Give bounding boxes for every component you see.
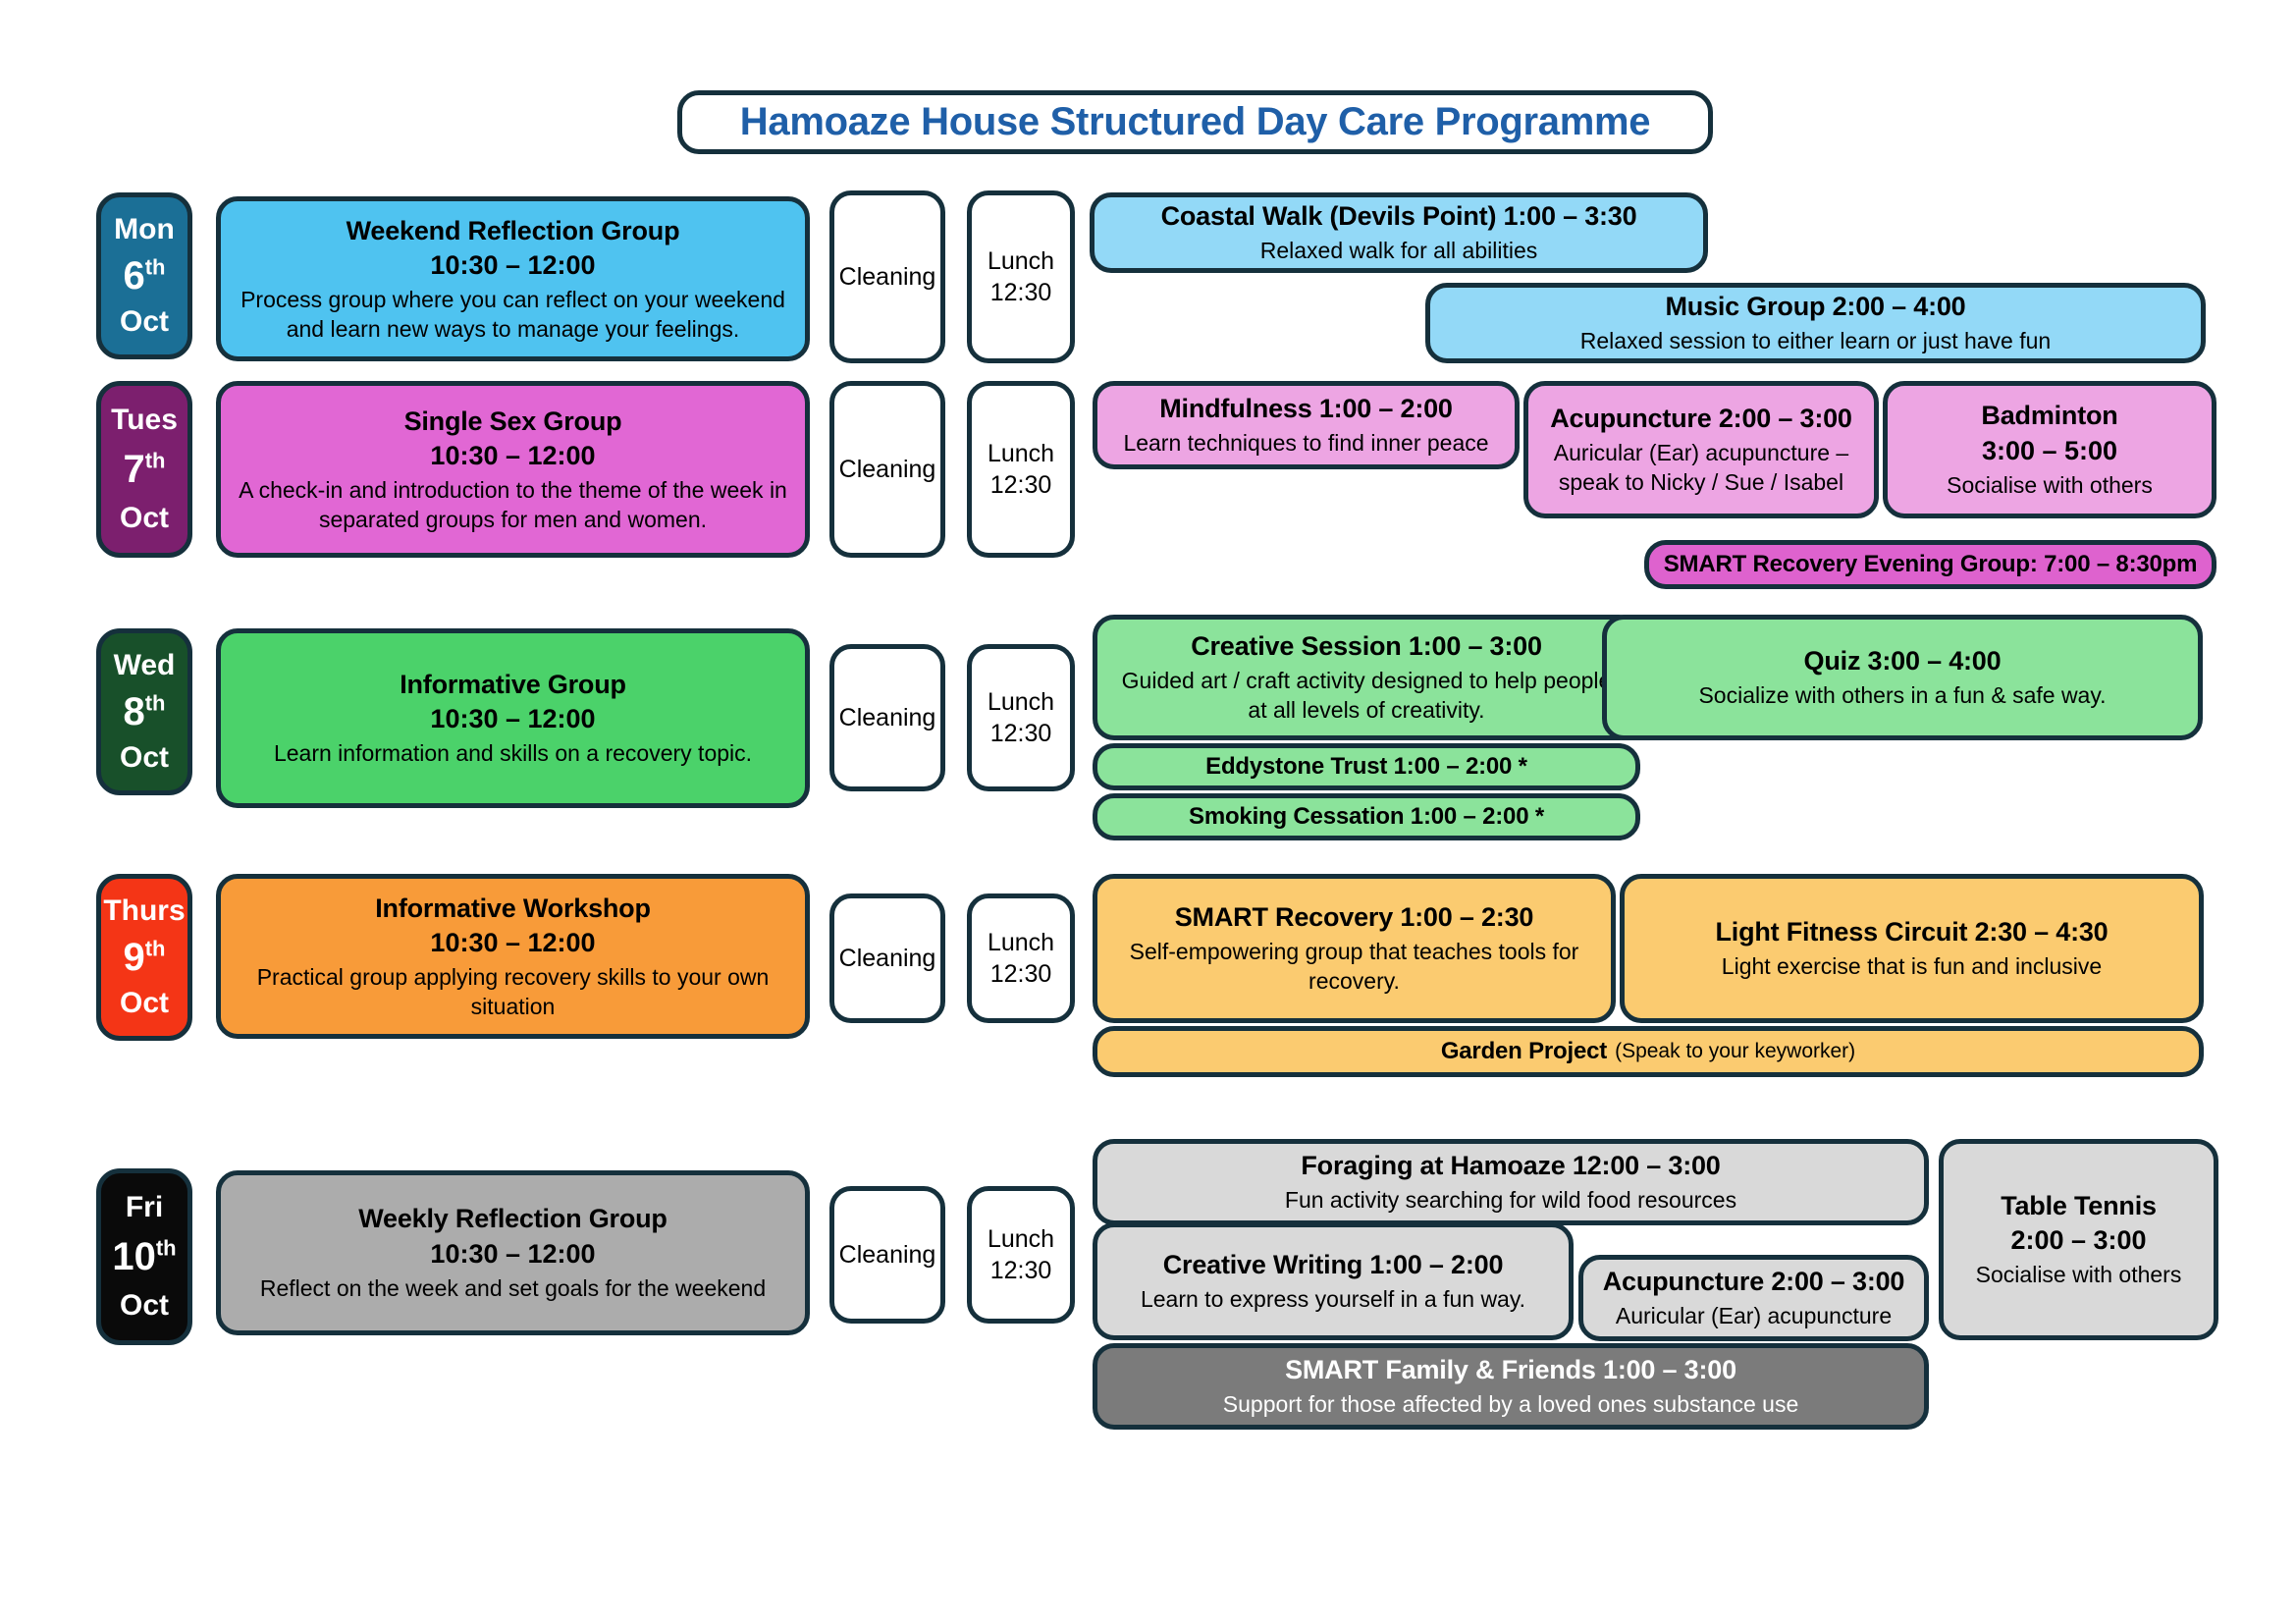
session-time: 3:00 – 5:00 (1982, 434, 2117, 468)
session-title: Table Tennis (2001, 1189, 2157, 1223)
session-desc: (Speak to your keyworker) (1615, 1038, 1855, 1064)
session-time: 10:30 – 12:00 (430, 248, 595, 283)
session-desc: Auricular (Ear) acupuncture (1616, 1302, 1892, 1331)
lunch-slot-wed[interactable]: Lunch 12:30 (967, 644, 1075, 791)
lunch-label: Lunch (988, 438, 1054, 470)
session-desc: Socialise with others (1976, 1261, 2182, 1290)
lunch-slot-thurs[interactable]: Lunch 12:30 (967, 893, 1075, 1023)
session-time: 2:00 – 3:00 (2010, 1223, 2146, 1258)
day-chip-tues: Tues 7th Oct (96, 381, 192, 558)
lunch-time: 12:30 (990, 958, 1052, 991)
session-desc: Learn techniques to find inner peace (1123, 429, 1488, 459)
session-title: Acupuncture 2:00 – 3:00 (1603, 1265, 1905, 1299)
cleaning-label: Cleaning (839, 454, 936, 486)
day-number: 10th (112, 1235, 176, 1279)
session-title: Informative Workshop (375, 892, 651, 926)
session-desc: Socialise with others (1947, 471, 2153, 501)
session-card-afternoon-thurs-1[interactable]: SMART Recovery 1:00 – 2:30 Self-empoweri… (1093, 874, 1616, 1023)
session-title: SMART Recovery Evening Group: 7:00 – 8:3… (1664, 549, 2198, 579)
day-month: Oct (120, 502, 169, 535)
day-chip-thurs: Thurs 9th Oct (96, 874, 192, 1041)
session-title: Weekly Reflection Group (358, 1202, 667, 1236)
session-desc: Socialize with others in a fun & safe wa… (1698, 681, 2106, 711)
day-month: Oct (120, 987, 169, 1020)
lunch-label: Lunch (988, 686, 1054, 719)
session-title: Garden Project (1441, 1036, 1607, 1066)
cleaning-slot-fri[interactable]: Cleaning (829, 1186, 945, 1324)
session-title: SMART Recovery 1:00 – 2:30 (1175, 900, 1533, 935)
session-desc: Guided art / craft activity designed to … (1109, 667, 1624, 726)
day-month: Oct (120, 305, 169, 339)
lunch-time: 12:30 (990, 277, 1052, 309)
cleaning-slot-thurs[interactable]: Cleaning (829, 893, 945, 1023)
session-desc: Learn to express yourself in a fun way. (1141, 1285, 1525, 1315)
session-card-morning-thurs[interactable]: Informative Workshop 10:30 – 12:00 Pract… (216, 874, 810, 1039)
session-card-afternoon-wed-4[interactable]: Smoking Cessation 1:00 – 2:00 * (1093, 793, 1640, 840)
session-card-afternoon-thurs-3[interactable]: Garden Project (Speak to your keyworker) (1093, 1026, 2204, 1077)
day-month: Oct (120, 741, 169, 775)
session-desc: Practical group applying recovery skills… (233, 963, 793, 1022)
session-time: 10:30 – 12:00 (430, 439, 595, 473)
session-desc: Learn information and skills on a recove… (274, 739, 752, 769)
session-card-afternoon-wed-3[interactable]: Eddystone Trust 1:00 – 2:00 * (1093, 743, 1640, 790)
day-chip-mon: Mon 6th Oct (96, 192, 192, 359)
lunch-time: 12:30 (990, 718, 1052, 750)
lunch-label: Lunch (988, 1223, 1054, 1256)
day-month: Oct (120, 1289, 169, 1323)
session-title: Music Group 2:00 – 4:00 (1665, 290, 1965, 324)
session-desc: Fun activity searching for wild food res… (1285, 1186, 1736, 1216)
session-card-afternoon-mon-2[interactable]: Music Group 2:00 – 4:00 Relaxed session … (1425, 283, 2206, 363)
session-title: Creative Session 1:00 – 3:00 (1191, 629, 1542, 664)
session-title: Eddystone Trust 1:00 – 2:00 * (1205, 751, 1527, 782)
session-desc: Process group where you can reflect on y… (233, 286, 793, 345)
session-card-morning-wed[interactable]: Informative Group 10:30 – 12:00 Learn in… (216, 628, 810, 808)
session-title: Coastal Walk (Devils Point) 1:00 – 3:30 (1161, 199, 1637, 234)
session-title: Weekend Reflection Group (347, 214, 680, 248)
cleaning-slot-wed[interactable]: Cleaning (829, 644, 945, 791)
session-card-afternoon-fri-4[interactable]: Table Tennis 2:00 – 3:00 Socialise with … (1939, 1139, 2218, 1340)
session-card-afternoon-fri-3[interactable]: Acupuncture 2:00 – 3:00 Auricular (Ear) … (1578, 1255, 1929, 1341)
day-weekday: Tues (111, 404, 178, 437)
lunch-slot-fri[interactable]: Lunch 12:30 (967, 1186, 1075, 1324)
session-title: SMART Family & Friends 1:00 – 3:00 (1285, 1353, 1736, 1387)
session-card-afternoon-wed-2[interactable]: Quiz 3:00 – 4:00 Socialize with others i… (1602, 615, 2203, 740)
session-card-afternoon-fri-1[interactable]: Foraging at Hamoaze 12:00 – 3:00 Fun act… (1093, 1139, 1929, 1225)
day-chip-fri: Fri 10th Oct (96, 1168, 192, 1345)
session-desc: Self-empowering group that teaches tools… (1109, 938, 1599, 997)
session-card-afternoon-tues-3[interactable]: Badminton 3:00 – 5:00 Socialise with oth… (1883, 381, 2216, 518)
session-title: Smoking Cessation 1:00 – 2:00 * (1189, 801, 1544, 832)
lunch-time: 12:30 (990, 469, 1052, 502)
lunch-label: Lunch (988, 245, 1054, 278)
session-title: Light Fitness Circuit 2:30 – 4:30 (1715, 915, 2108, 949)
session-desc: Relaxed session to either learn or just … (1580, 327, 2051, 356)
session-title: Badminton (1981, 399, 2117, 433)
day-number: 9th (123, 936, 165, 980)
cleaning-label: Cleaning (839, 261, 936, 294)
cleaning-slot-tues[interactable]: Cleaning (829, 381, 945, 558)
session-card-morning-fri[interactable]: Weekly Reflection Group 10:30 – 12:00 Re… (216, 1170, 810, 1335)
session-time: 10:30 – 12:00 (430, 702, 595, 736)
session-card-afternoon-tues-1[interactable]: Mindfulness 1:00 – 2:00 Learn techniques… (1093, 381, 1520, 469)
session-desc: Auricular (Ear) acupuncture – speak to N… (1540, 439, 1862, 498)
page-title: Hamoaze House Structured Day Care Progra… (740, 100, 1650, 144)
session-title: Informative Group (400, 668, 626, 702)
session-title: Creative Writing 1:00 – 2:00 (1163, 1248, 1504, 1282)
session-title: Foraging at Hamoaze 12:00 – 3:00 (1301, 1149, 1720, 1183)
lunch-label: Lunch (988, 927, 1054, 959)
session-time: 10:30 – 12:00 (430, 1237, 595, 1272)
lunch-slot-tues[interactable]: Lunch 12:30 (967, 381, 1075, 558)
day-weekday: Thurs (103, 894, 185, 928)
lunch-slot-mon[interactable]: Lunch 12:30 (967, 190, 1075, 363)
session-card-afternoon-fri-5[interactable]: SMART Family & Friends 1:00 – 3:00 Suppo… (1093, 1343, 1929, 1430)
lunch-time: 12:30 (990, 1255, 1052, 1287)
session-title: Acupuncture 2:00 – 3:00 (1550, 402, 1852, 436)
session-desc: Light exercise that is fun and inclusive (1722, 952, 2102, 982)
session-card-afternoon-mon-1[interactable]: Coastal Walk (Devils Point) 1:00 – 3:30 … (1090, 192, 1708, 273)
day-weekday: Mon (114, 213, 175, 246)
day-number: 8th (123, 690, 165, 734)
day-weekday: Wed (114, 649, 176, 682)
session-title: Mindfulness 1:00 – 2:00 (1159, 392, 1453, 426)
session-time: 10:30 – 12:00 (430, 926, 595, 960)
session-card-afternoon-wed-1[interactable]: Creative Session 1:00 – 3:00 Guided art … (1093, 615, 1640, 740)
day-number: 6th (123, 254, 165, 298)
session-card-evening-tues[interactable]: SMART Recovery Evening Group: 7:00 – 8:3… (1644, 540, 2216, 589)
session-card-morning-tues[interactable]: Single Sex Group 10:30 – 12:00 A check-i… (216, 381, 810, 558)
session-title: Quiz 3:00 – 4:00 (1804, 644, 2002, 678)
session-card-afternoon-tues-2[interactable]: Acupuncture 2:00 – 3:00 Auricular (Ear) … (1523, 381, 1879, 518)
cleaning-slot-mon[interactable]: Cleaning (829, 190, 945, 363)
page-title-banner: Hamoaze House Structured Day Care Progra… (677, 90, 1713, 154)
cleaning-label: Cleaning (839, 943, 936, 975)
session-desc: Reflect on the week and set goals for th… (260, 1274, 766, 1304)
day-number: 7th (123, 448, 165, 492)
session-card-afternoon-fri-2[interactable]: Creative Writing 1:00 – 2:00 Learn to ex… (1093, 1222, 1574, 1340)
day-weekday: Fri (126, 1191, 163, 1224)
session-desc: Support for those affected by a loved on… (1223, 1390, 1798, 1420)
session-card-afternoon-thurs-2[interactable]: Light Fitness Circuit 2:30 – 4:30 Light … (1620, 874, 2204, 1023)
session-desc: Relaxed walk for all abilities (1260, 237, 1538, 266)
session-title: Single Sex Group (404, 405, 622, 439)
session-desc: A check-in and introduction to the theme… (233, 476, 793, 535)
session-card-morning-mon[interactable]: Weekend Reflection Group 10:30 – 12:00 P… (216, 196, 810, 361)
cleaning-label: Cleaning (839, 1239, 936, 1272)
day-chip-wed: Wed 8th Oct (96, 628, 192, 795)
cleaning-label: Cleaning (839, 702, 936, 734)
